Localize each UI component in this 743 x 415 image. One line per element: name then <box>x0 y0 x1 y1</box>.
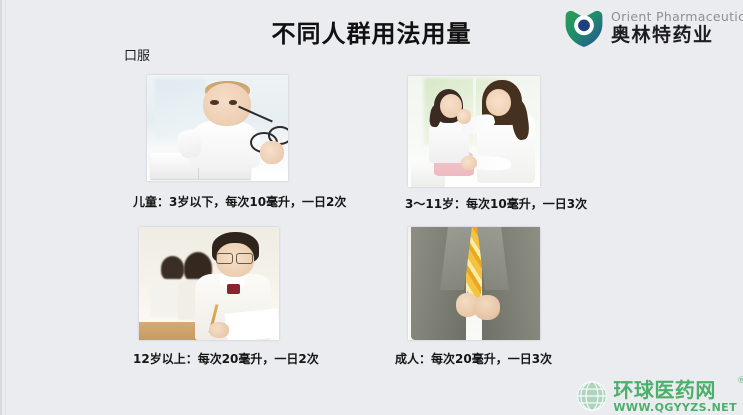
site-watermark: 环球医药网 WWW.QGYYZS.NET ® <box>575 379 737 413</box>
baby-with-book-photo <box>147 75 288 181</box>
slide-canvas: 不同人群用法用量 Orient Pharmaceutical 奥林特药业 口服 <box>0 0 743 415</box>
dosage-caption-teen: 12岁以上：每次20毫升，一日2次 <box>133 350 319 367</box>
man-in-suit-holding-stomach-photo <box>408 227 540 340</box>
dosage-caption-adult: 成人：每次20毫升，一日3次 <box>395 350 552 367</box>
brand-logo: Orient Pharmaceutical 奥林特药业 <box>563 4 735 52</box>
shield-logo-icon <box>563 7 605 49</box>
dosage-caption-child: 儿童：3岁以下，每次10毫升，一日2次 <box>133 193 346 210</box>
mother-and-daughter-photo <box>408 76 540 187</box>
watermark-site-name: 环球医药网 <box>613 380 737 400</box>
dosage-card-adult: 成人：每次20毫升，一日3次 <box>408 227 552 367</box>
section-label-oral: 口服 <box>124 45 150 64</box>
registered-trademark-icon: ® <box>737 377 743 386</box>
brand-text: Orient Pharmaceutical 奥林特药业 <box>611 11 743 45</box>
brand-name-en: Orient Pharmaceutical <box>611 11 743 24</box>
student-in-classroom-photo <box>139 227 279 340</box>
brand-name-cn: 奥林特药业 <box>611 26 743 45</box>
left-edge-rule <box>0 0 2 415</box>
left-edge-rule-secondary <box>5 0 6 415</box>
dosage-card-junior: 3～11岁：每次10毫升，一日3次 <box>408 76 587 212</box>
dosage-card-teen: 12岁以上：每次20毫升，一日2次 <box>139 227 319 367</box>
watermark-site-url: WWW.QGYYZS.NET <box>613 402 737 413</box>
globe-icon <box>575 379 609 413</box>
dosage-caption-junior: 3～11岁：每次10毫升，一日3次 <box>405 195 587 212</box>
dosage-card-child: 儿童：3岁以下，每次10毫升，一日2次 <box>147 75 346 210</box>
watermark-text: 环球医药网 WWW.QGYYZS.NET ® <box>613 380 737 413</box>
